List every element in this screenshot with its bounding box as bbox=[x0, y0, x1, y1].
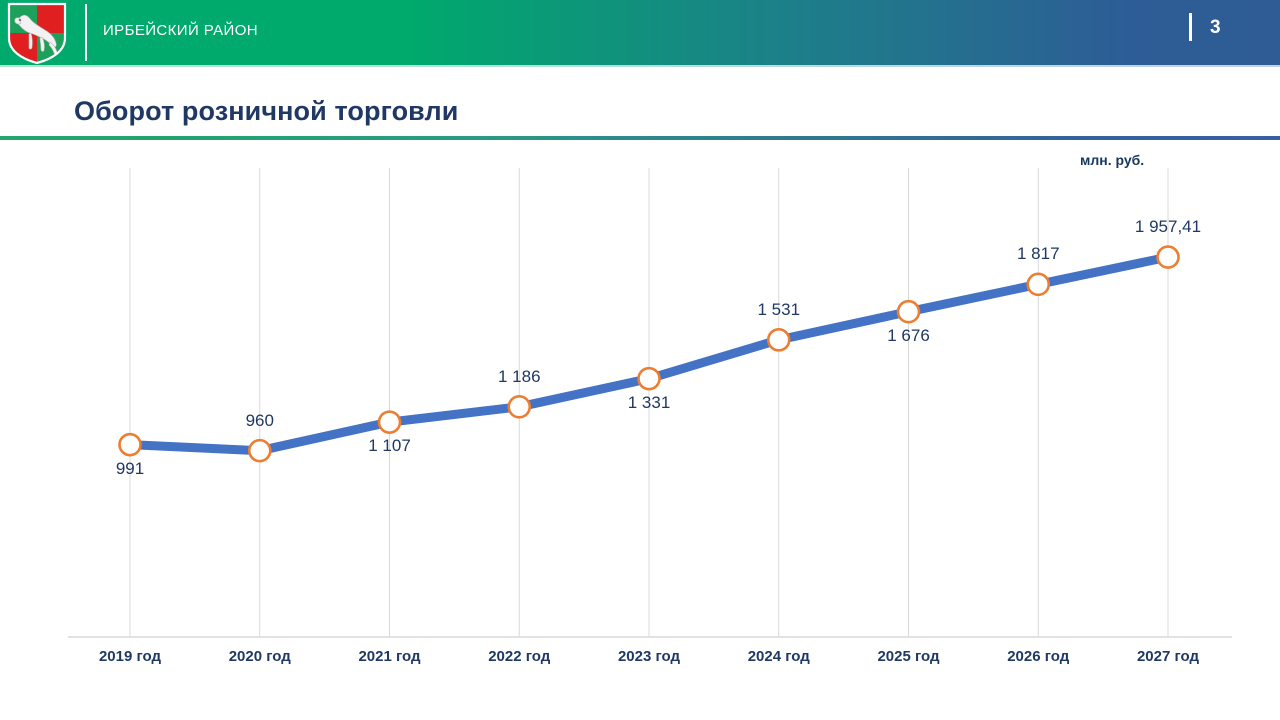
data-point-value-label: 1 676 bbox=[887, 326, 930, 346]
data-point-marker[interactable] bbox=[639, 368, 660, 389]
category-axis-labels: 2019 год2020 год2021 год2022 год2023 год… bbox=[0, 648, 1280, 678]
chart-canvas bbox=[0, 150, 1280, 720]
title-underline-rule bbox=[0, 136, 1280, 140]
data-point-marker[interactable] bbox=[379, 412, 400, 433]
category-label-2025: 2025 год bbox=[877, 648, 939, 665]
page-title: Оборот розничной торговли bbox=[74, 96, 458, 127]
retail-turnover-line-chart bbox=[0, 150, 1280, 720]
page-number: 3 bbox=[1210, 17, 1250, 39]
data-point-value-label: 960 bbox=[246, 411, 274, 431]
data-point-marker[interactable] bbox=[509, 396, 530, 417]
data-point-marker[interactable] bbox=[249, 440, 270, 461]
category-label-2024: 2024 год bbox=[748, 648, 810, 665]
category-label-2020: 2020 год bbox=[229, 648, 291, 665]
header-separator bbox=[85, 4, 87, 61]
data-point-value-label: 1 107 bbox=[368, 436, 411, 456]
category-label-2027: 2027 год bbox=[1137, 648, 1199, 665]
data-point-marker[interactable] bbox=[120, 434, 141, 455]
page-number-separator bbox=[1189, 13, 1192, 41]
data-point-value-label: 1 531 bbox=[757, 300, 800, 320]
coat-of-arms-emblem bbox=[6, 2, 68, 64]
category-label-2021: 2021 год bbox=[358, 648, 420, 665]
category-label-2026: 2026 год bbox=[1007, 648, 1069, 665]
data-point-value-label: 1 186 bbox=[498, 367, 541, 387]
data-point-value-label: 991 bbox=[116, 459, 144, 479]
data-point-value-label: 1 957,41 bbox=[1135, 217, 1201, 237]
data-point-marker[interactable] bbox=[898, 301, 919, 322]
data-point-marker[interactable] bbox=[1158, 247, 1179, 268]
header-bottom-rule bbox=[0, 65, 1280, 67]
category-label-2023: 2023 год bbox=[618, 648, 680, 665]
category-label-2022: 2022 год bbox=[488, 648, 550, 665]
app-header: ИРБЕЙСКИЙ РАЙОН 3 bbox=[0, 0, 1280, 65]
data-point-marker[interactable] bbox=[1028, 274, 1049, 295]
category-label-2019: 2019 год bbox=[99, 648, 161, 665]
data-point-value-label: 1 331 bbox=[628, 393, 671, 413]
region-title: ИРБЕЙСКИЙ РАЙОН bbox=[103, 22, 258, 39]
data-point-value-label: 1 817 bbox=[1017, 244, 1060, 264]
data-point-marker[interactable] bbox=[768, 329, 789, 350]
